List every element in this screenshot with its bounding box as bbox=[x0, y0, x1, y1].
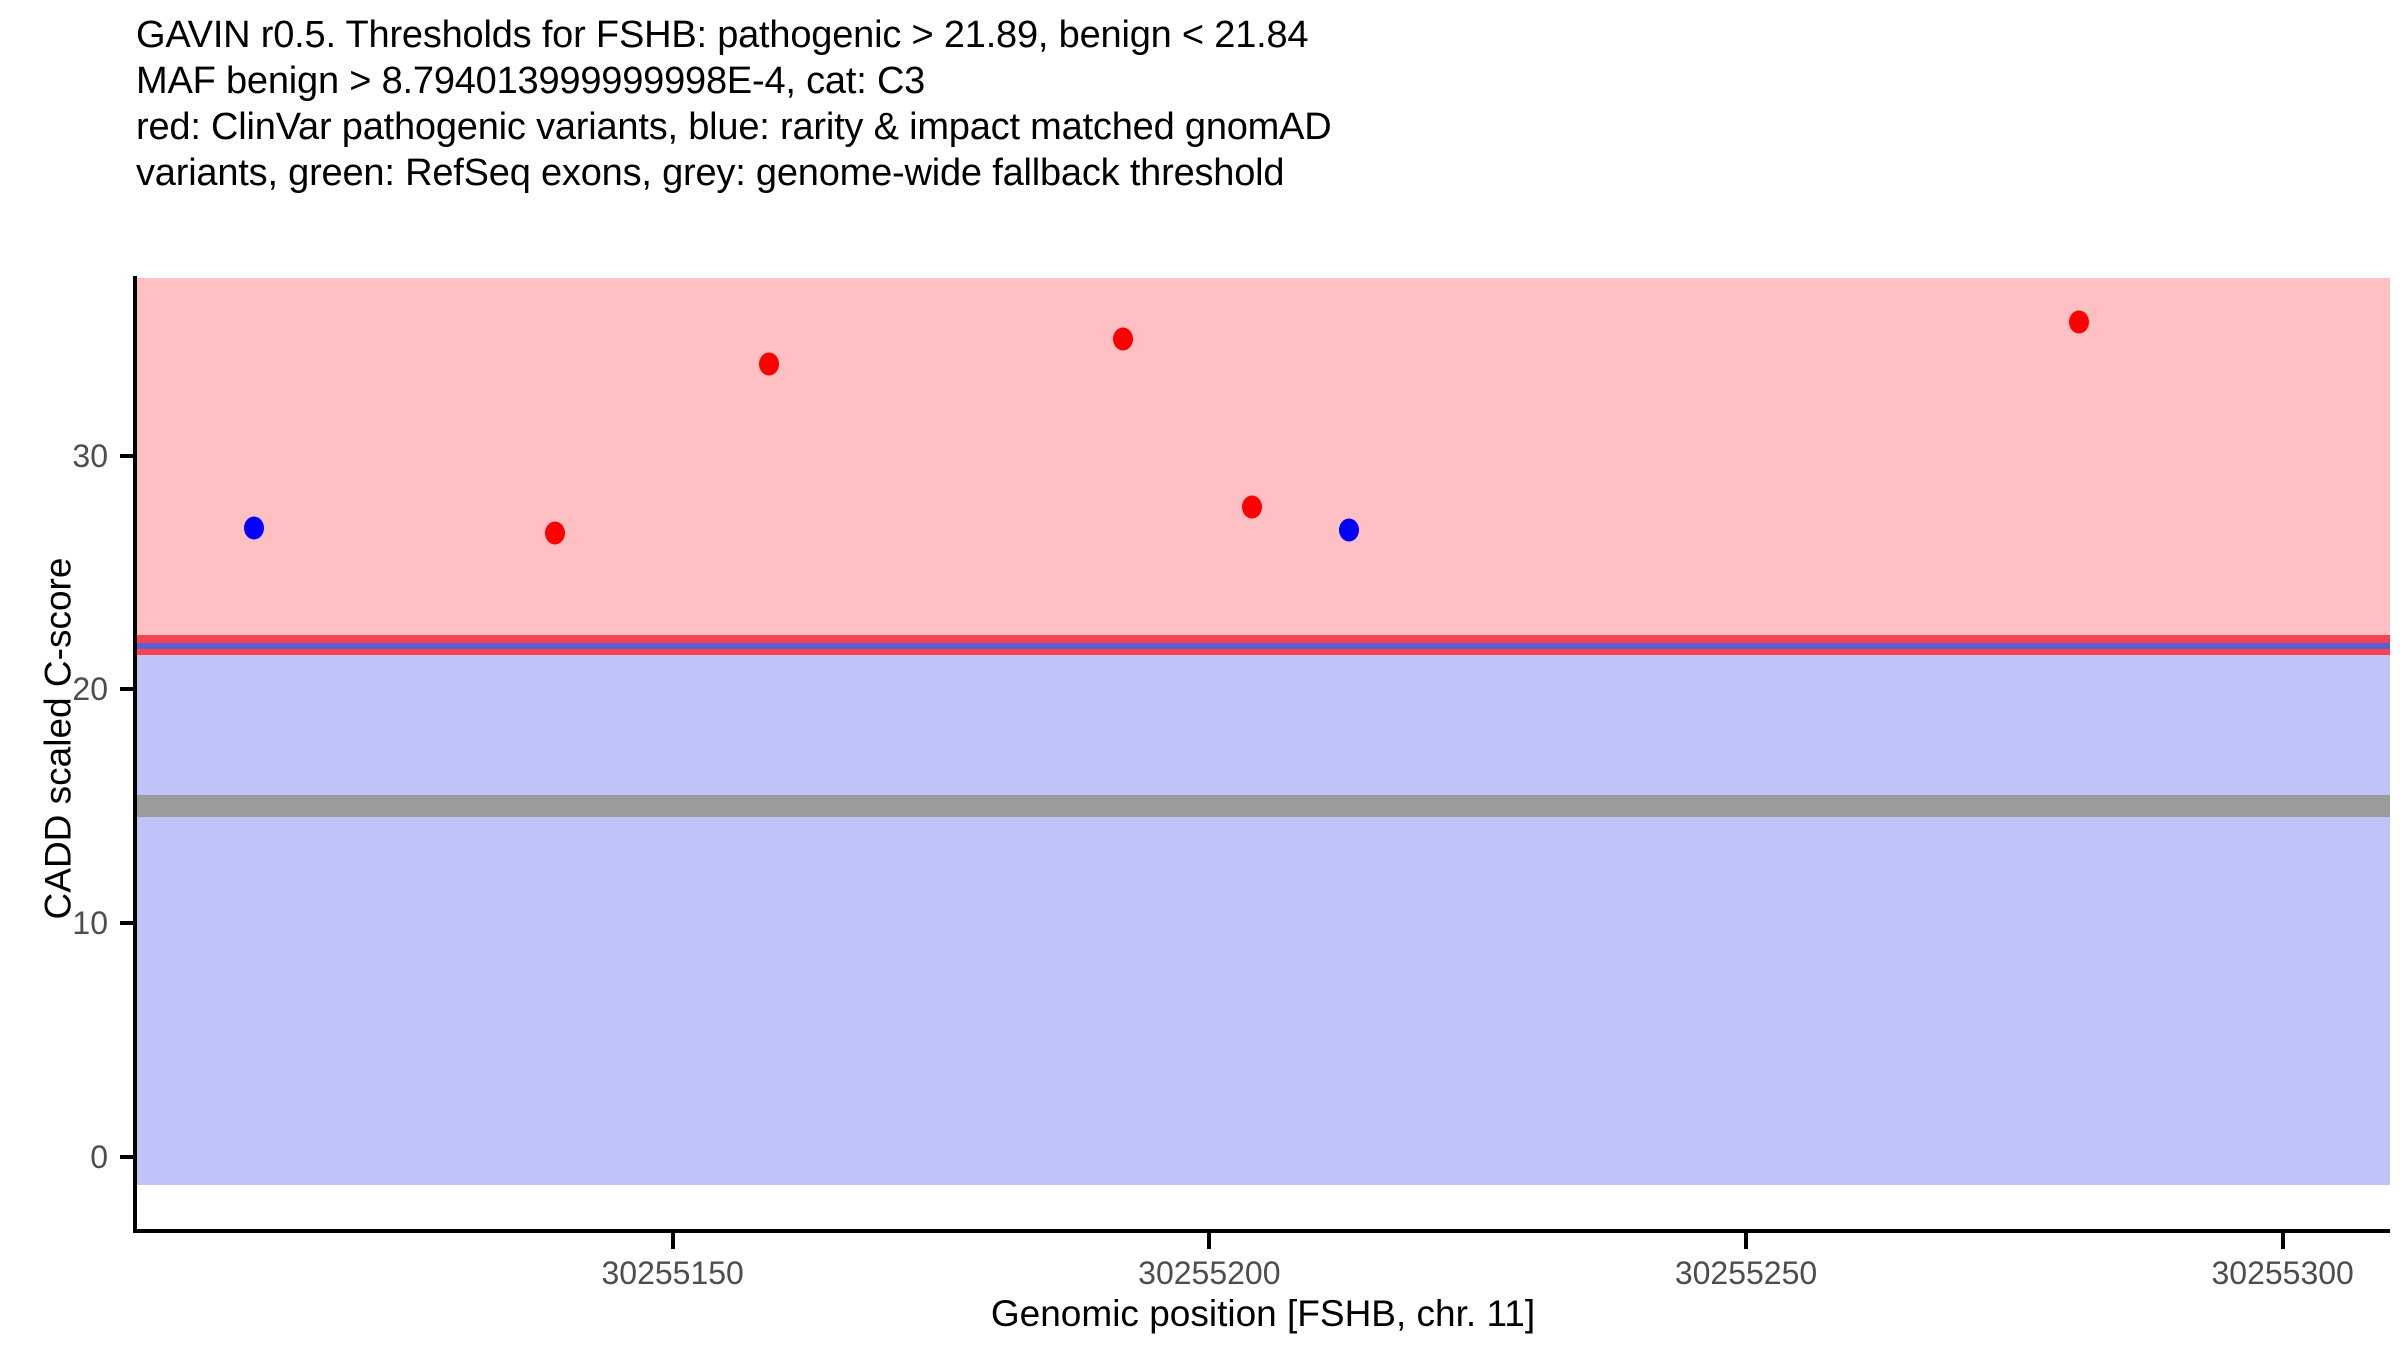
threshold-line bbox=[136, 795, 2390, 817]
x-tick-label: 30255200 bbox=[1079, 1257, 1339, 1289]
threshold-band bbox=[136, 278, 2390, 645]
x-tick-label: 30255300 bbox=[2153, 1257, 2400, 1289]
plot-title-line-2: MAF benign > 8.794013999999998E-4, cat: … bbox=[136, 58, 2286, 104]
x-axis-line bbox=[133, 1229, 2390, 1233]
threshold-line bbox=[136, 643, 2390, 649]
data-point[interactable] bbox=[759, 353, 779, 376]
data-point[interactable] bbox=[244, 517, 264, 540]
x-tick-mark bbox=[1207, 1233, 1211, 1249]
y-tick-mark bbox=[120, 1155, 136, 1159]
plot-title: GAVIN r0.5. Thresholds for FSHB: pathoge… bbox=[136, 12, 2286, 196]
gavin-cadd-scatter-plot: GAVIN r0.5. Thresholds for FSHB: pathoge… bbox=[0, 0, 2400, 1350]
data-point[interactable] bbox=[1113, 327, 1133, 350]
y-tick-mark bbox=[120, 454, 136, 458]
data-point[interactable] bbox=[1242, 496, 1262, 519]
x-tick-label: 30255250 bbox=[1616, 1257, 1876, 1289]
y-axis-line bbox=[133, 276, 137, 1231]
plot-title-line-1: GAVIN r0.5. Thresholds for FSHB: pathoge… bbox=[136, 12, 2286, 58]
threshold-band bbox=[136, 646, 2390, 1185]
y-axis-title: CADD scaled C-score bbox=[40, 379, 77, 1099]
y-tick-mark bbox=[120, 687, 136, 691]
x-tick-label: 30255150 bbox=[543, 1257, 803, 1289]
plot-title-line-3: red: ClinVar pathogenic variants, blue: … bbox=[136, 104, 2286, 150]
y-tick-mark bbox=[120, 921, 136, 925]
data-point[interactable] bbox=[545, 521, 565, 544]
y-tick-label: 0 bbox=[8, 1141, 108, 1173]
x-tick-mark bbox=[671, 1233, 675, 1249]
data-point[interactable] bbox=[2069, 311, 2089, 334]
plot-title-line-4: variants, green: RefSeq exons, grey: gen… bbox=[136, 150, 2286, 196]
data-point[interactable] bbox=[1339, 519, 1359, 542]
x-axis-title: Genomic position [FSHB, chr. 11] bbox=[136, 1295, 2390, 1332]
x-tick-mark bbox=[2281, 1233, 2285, 1249]
x-tick-mark bbox=[1744, 1233, 1748, 1249]
plot-panel bbox=[136, 278, 2390, 1185]
